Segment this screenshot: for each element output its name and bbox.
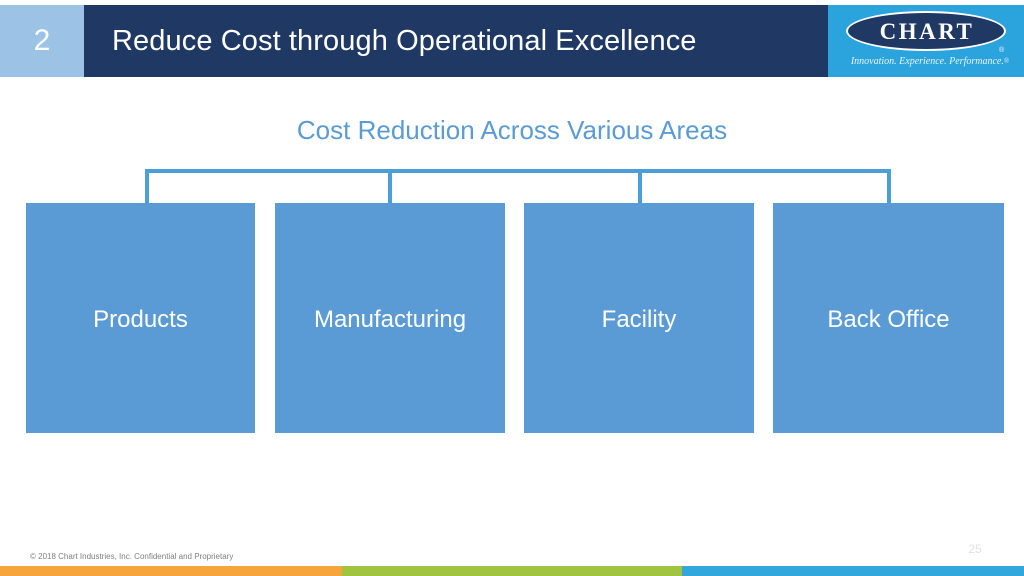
category-box-label: Products (93, 308, 188, 332)
footer-copyright: © 2018 Chart Industries, Inc. Confidenti… (30, 553, 233, 561)
slide-header: 2 Reduce Cost through Operational Excell… (0, 5, 1024, 77)
footer-bar-segment-blue (682, 566, 1024, 576)
brand-tagline: Innovation. Experience. Performance.® (840, 57, 1020, 67)
section-number-label: 2 (34, 26, 51, 56)
category-box-back-office[interactable]: Back Office (773, 203, 1004, 433)
category-box-label: Manufacturing (314, 308, 466, 332)
category-box-label: Facility (602, 308, 677, 332)
tagline-registered-trademark-icon: ® (1004, 57, 1009, 65)
page-number: 25 (955, 543, 995, 555)
category-box-manufacturing[interactable]: Manufacturing (275, 203, 505, 433)
category-box-products[interactable]: Products (26, 203, 255, 433)
category-box-label: Back Office (827, 308, 949, 332)
footer-bar-segment-orange (0, 566, 342, 576)
brand-logo-panel: CHART ® Innovation. Experience. Performa… (828, 5, 1024, 77)
chart-logo-icon: CHART (846, 11, 1006, 51)
slide-canvas: 2 Reduce Cost through Operational Excell… (0, 0, 1024, 576)
section-number-badge: 2 (0, 5, 84, 77)
footer-bar-segment-green (342, 566, 682, 576)
brand-tagline-text: Innovation. Experience. Performance. (851, 56, 1004, 67)
title-bar: Reduce Cost through Operational Excellen… (84, 5, 828, 77)
diagram-subtitle: Cost Reduction Across Various Areas (0, 115, 1024, 146)
chart-logo-wordmark: CHART (878, 20, 975, 43)
category-box-facility[interactable]: Facility (524, 203, 754, 433)
page-title: Reduce Cost through Operational Excellen… (84, 25, 697, 58)
footer-color-bar (0, 566, 1024, 576)
registered-trademark-icon: ® (999, 47, 1004, 54)
